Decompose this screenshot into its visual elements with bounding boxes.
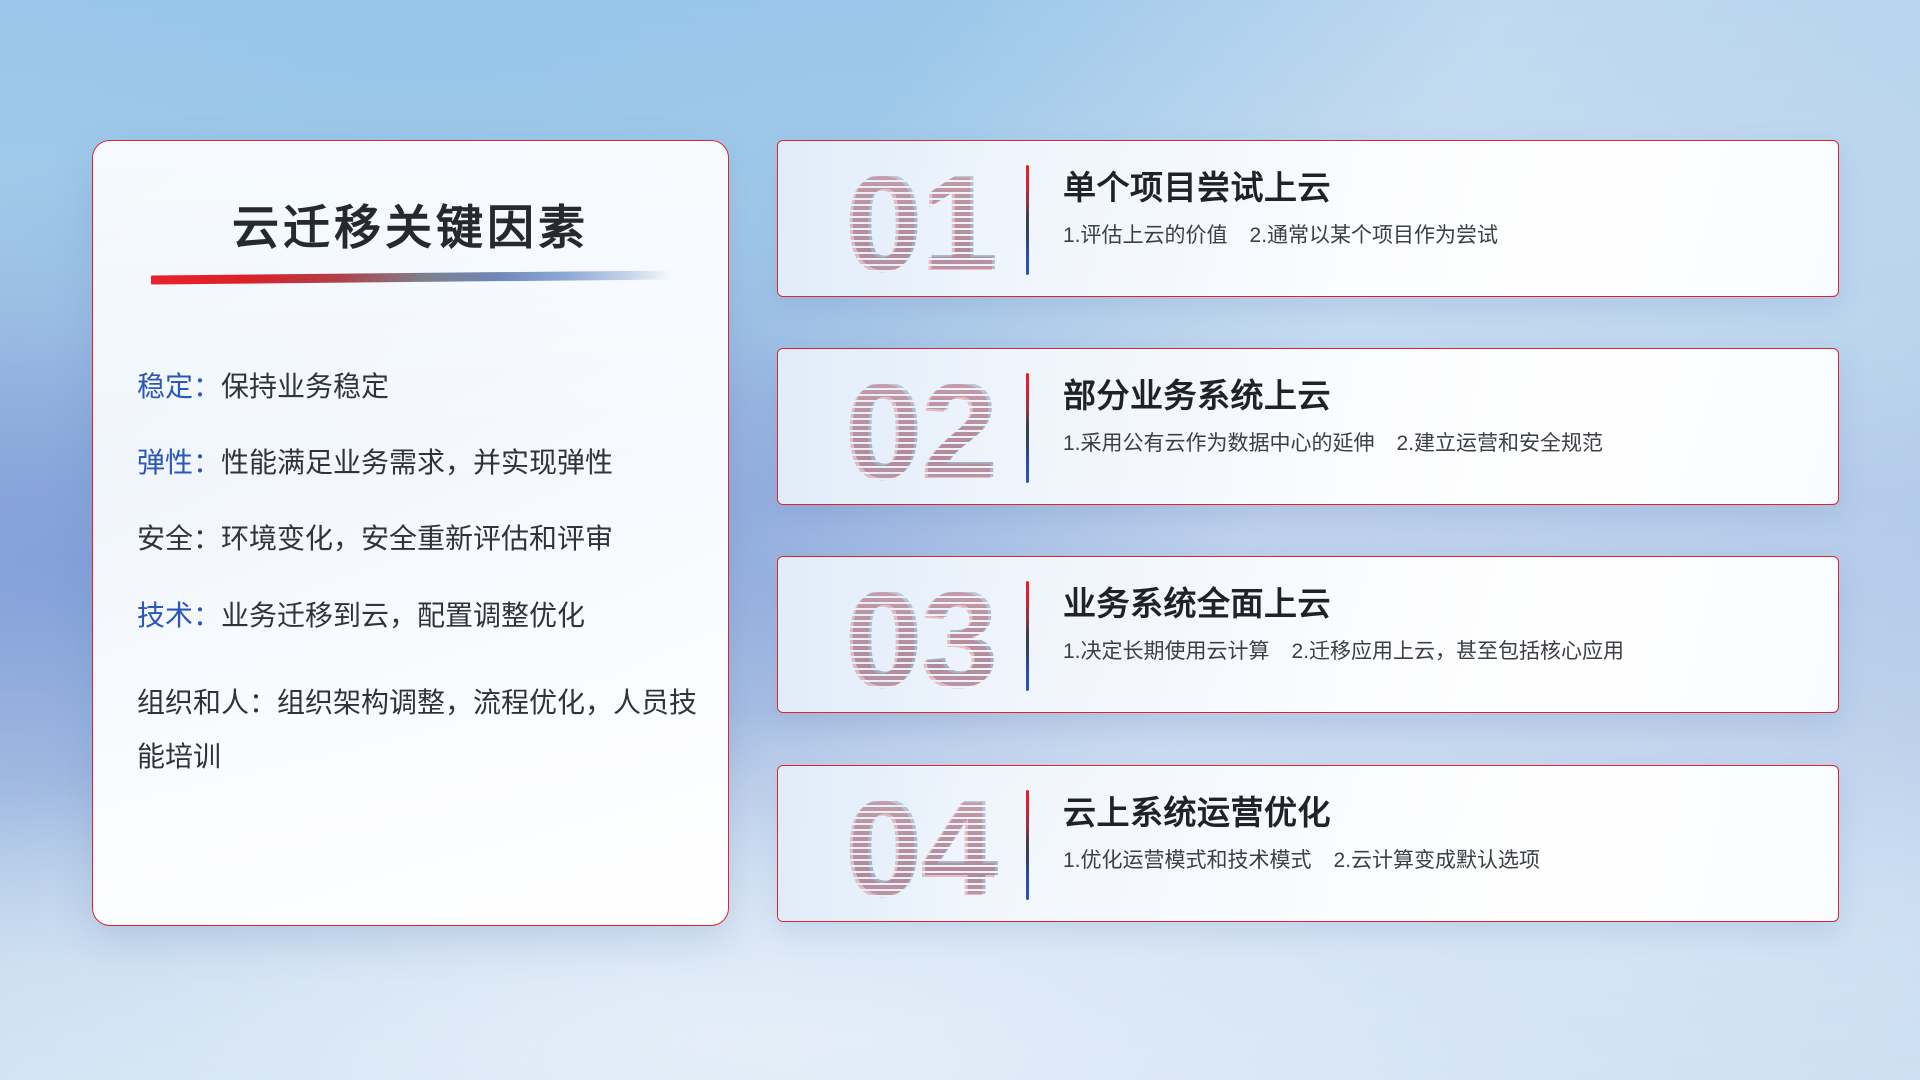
stage-title: 业务系统全面上云	[1063, 577, 1331, 625]
svg-text:03: 03	[844, 573, 995, 701]
stage-point: 2.迁移应用上云，甚至包括核心应用	[1292, 640, 1625, 663]
stage-title: 部分业务系统上云	[1063, 369, 1331, 417]
stage-title: 单个项目尝试上云	[1063, 161, 1331, 209]
list-item-text: 环境变化，安全重新评估和评审	[221, 523, 613, 554]
stage-points: 1.评估上云的价值2.通常以某个项目作为尝试	[1063, 219, 1498, 249]
list-item: 安全：环境变化，安全重新评估和评审	[137, 523, 702, 555]
stage-title: 云上系统运营优化	[1063, 786, 1331, 834]
svg-text:02: 02	[844, 365, 995, 493]
list-item-label: 组织和人：	[137, 687, 277, 718]
stage-points: 1.优化运营模式和技术模式2.云计算变成默认选项	[1063, 844, 1540, 874]
stage-number-03-glitch-icon: 03 03	[810, 573, 1036, 701]
stage-number-01-glitch-icon: 01 01	[810, 157, 1036, 285]
stage-point: 1.决定长期使用云计算	[1063, 640, 1270, 663]
list-item-text: 业务迁移到云，配置调整优化	[221, 600, 585, 631]
list-item: 技术：业务迁移到云，配置调整优化	[137, 600, 702, 632]
list-item: 组织和人：组织架构调整，流程优化，人员技能培训	[137, 676, 702, 785]
stage-card-01[interactable]: 01 01 单个项目尝试上云 1.评估上云的价值2.通常以某个项目作为尝试	[777, 140, 1839, 297]
stage-card-03[interactable]: 03 03 业务系统全面上云 1.决定长期使用云计算2.迁移应用上云，甚至包括核…	[777, 556, 1839, 713]
stage-points: 1.采用公有云作为数据中心的延伸2.建立运营和安全规范	[1063, 427, 1603, 457]
svg-text:04: 04	[844, 782, 995, 910]
key-factors-list: 稳定：保持业务稳定 弹性：性能满足业务需求，并实现弹性 安全：环境变化，安全重新…	[137, 371, 702, 829]
list-item-label: 安全：	[137, 523, 221, 554]
list-item-label: 技术：	[137, 600, 221, 631]
list-item: 弹性：性能满足业务需求，并实现弹性	[137, 447, 702, 479]
key-factors-panel: 云迁移关键因素 稳定：保持业务稳定 弹性：性能满足业务需求，并实现弹性 安全：环…	[92, 140, 729, 926]
stage-card-02[interactable]: 02 02 部分业务系统上云 1.采用公有云作为数据中心的延伸2.建立运营和安全…	[777, 348, 1839, 505]
title-underline-bar	[151, 271, 671, 285]
svg-text:01: 01	[844, 157, 995, 285]
stage-points: 1.决定长期使用云计算2.迁移应用上云，甚至包括核心应用	[1063, 635, 1624, 665]
stage-point: 2.云计算变成默认选项	[1334, 849, 1541, 872]
stage-number-04-glitch-icon: 04 04	[810, 782, 1036, 910]
list-item-text: 保持业务稳定	[221, 371, 389, 402]
stage-point: 1.采用公有云作为数据中心的延伸	[1063, 432, 1375, 455]
list-item-label: 稳定：	[137, 371, 221, 402]
slide-frame: 云迁移关键因素 稳定：保持业务稳定 弹性：性能满足业务需求，并实现弹性 安全：环…	[0, 0, 1920, 1080]
stage-point: 1.评估上云的价值	[1063, 224, 1228, 247]
list-item: 稳定：保持业务稳定	[137, 371, 702, 403]
list-item-text: 性能满足业务需求，并实现弹性	[221, 447, 613, 478]
list-item-label: 弹性：	[137, 447, 221, 478]
stage-accent-bar	[1026, 790, 1029, 900]
page-title: 云迁移关键因素	[93, 189, 728, 258]
stage-accent-bar	[1026, 373, 1029, 483]
stage-accent-bar	[1026, 165, 1029, 275]
stage-point: 2.建立运营和安全规范	[1397, 432, 1604, 455]
stage-number-02-glitch-icon: 02 02	[810, 365, 1036, 493]
stage-accent-bar	[1026, 581, 1029, 691]
stage-card-04[interactable]: 04 04 云上系统运营优化 1.优化运营模式和技术模式2.云计算变成默认选项	[777, 765, 1839, 922]
stage-point: 2.通常以某个项目作为尝试	[1250, 224, 1499, 247]
stage-point: 1.优化运营模式和技术模式	[1063, 849, 1312, 872]
